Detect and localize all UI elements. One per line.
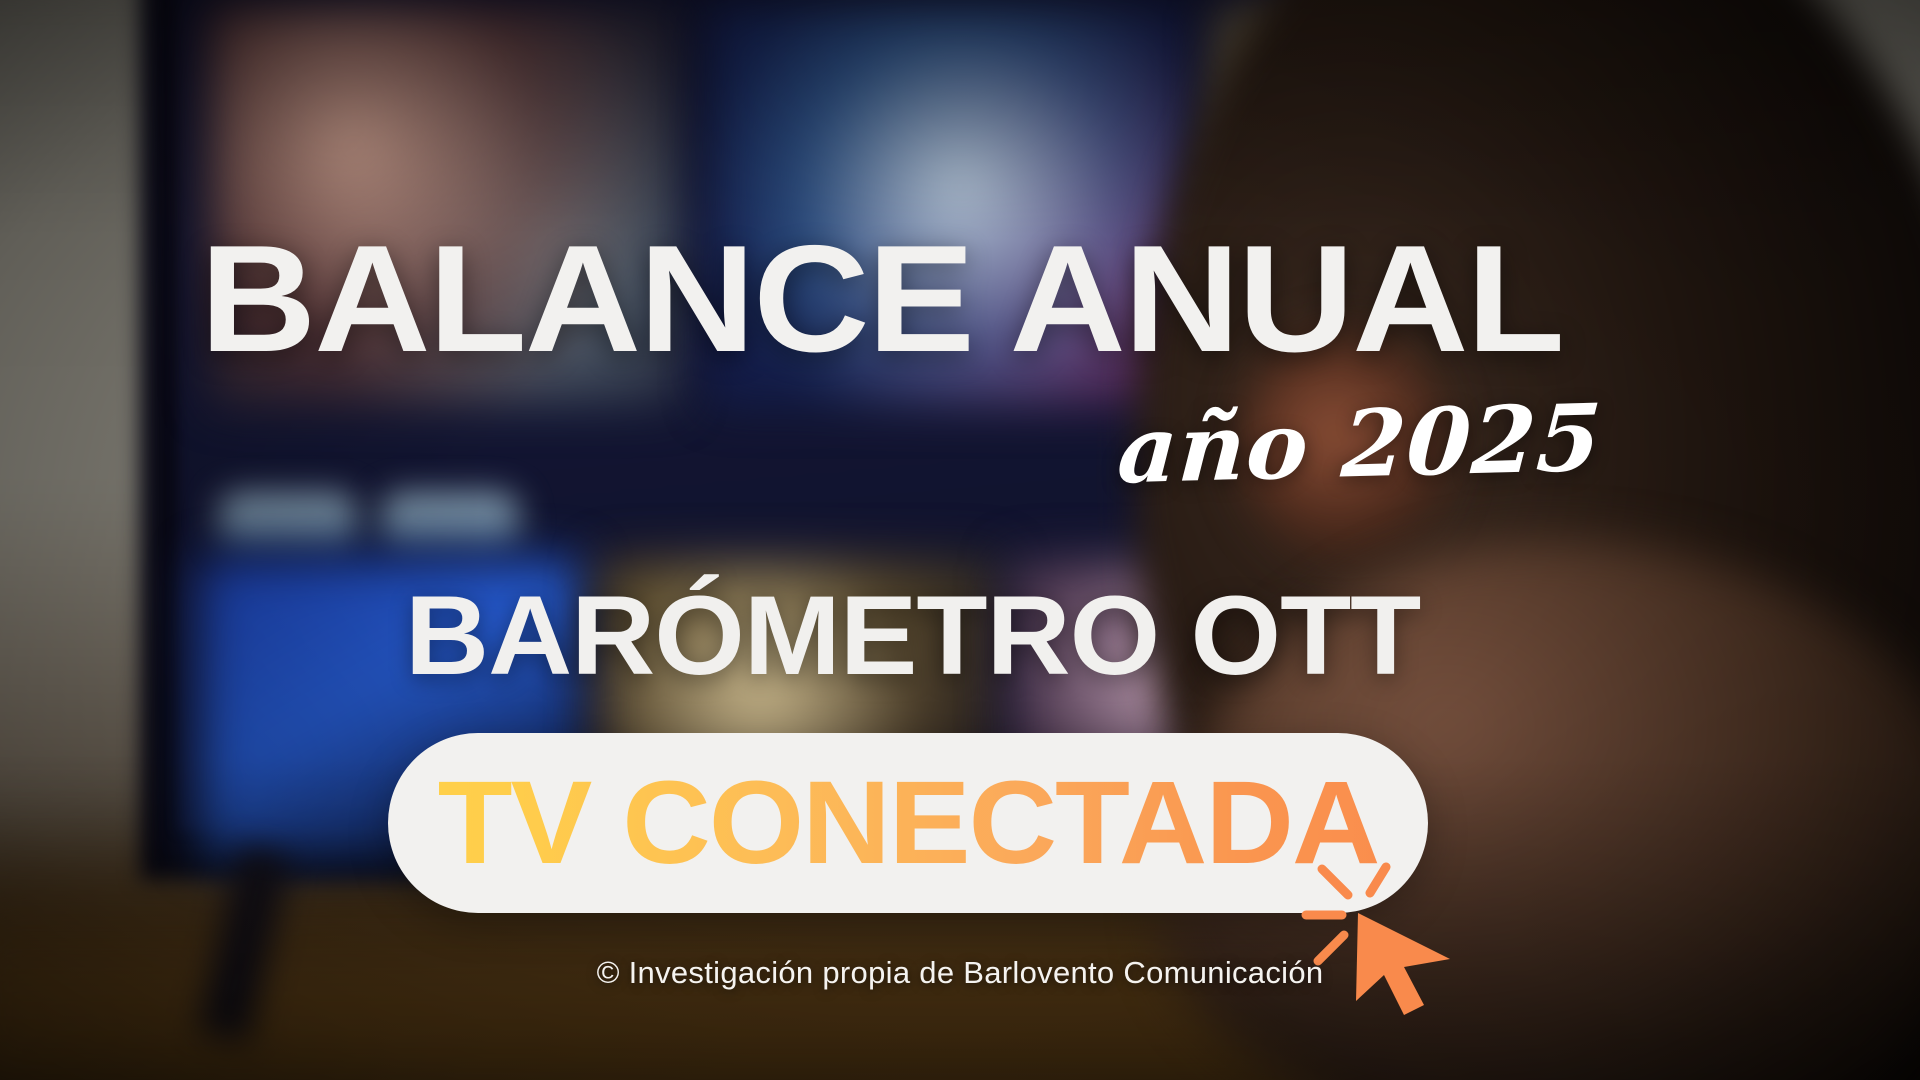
report-name: BARÓMETRO OTT (405, 580, 1420, 692)
click-cursor-icon (1300, 855, 1470, 1025)
tv-conectada-pill: TV CONECTADA (388, 733, 1428, 913)
year-subtitle: año 2025 (1115, 392, 1604, 497)
promo-graphic: BALANCE ANUAL año 2025 BARÓMETRO OTT TV … (0, 0, 1920, 1080)
attribution-text: © Investigación propia de Barlovento Com… (0, 955, 1920, 991)
pill-label: TV CONECTADA (367, 733, 1449, 913)
overlay-content: BALANCE ANUAL año 2025 BARÓMETRO OTT TV … (0, 0, 1920, 1080)
page-title: BALANCE ANUAL (200, 230, 1563, 370)
